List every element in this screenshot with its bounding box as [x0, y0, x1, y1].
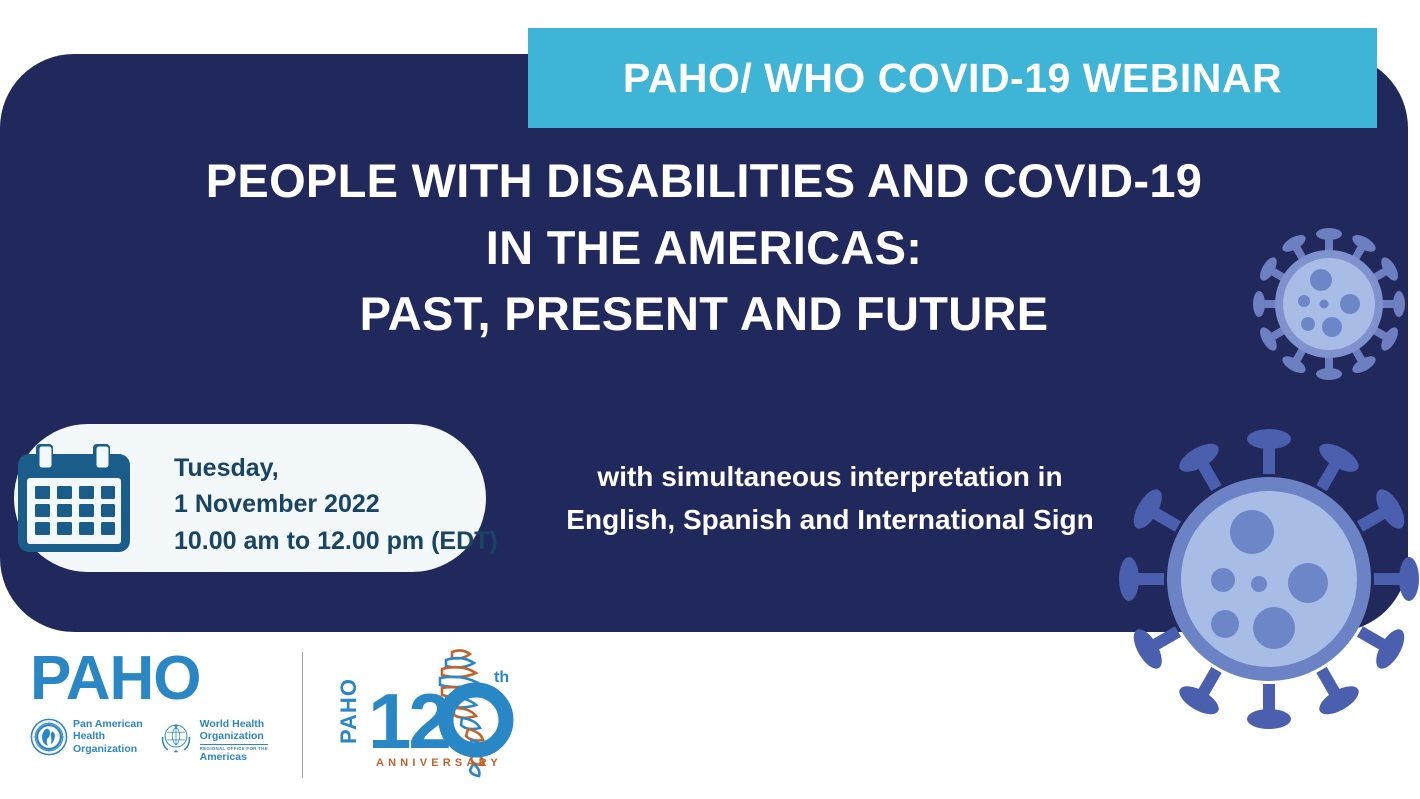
logo-divider	[302, 652, 303, 778]
webinar-banner: PAHO/ WHO COVID-19 WEBINAR	[528, 28, 1377, 128]
anniversary-logo: PAHO 12 th ANNIVERSARY	[334, 644, 534, 784]
who-sub-line-1: World Health	[200, 718, 268, 730]
date-details: Tuesday, 1 November 2022 10.00 am to 12.…	[174, 450, 498, 559]
world-health-organization-text: World Health Organization REGIONAL OFFIC…	[200, 718, 268, 764]
pan-american-health-organization-lockup: Pan American Health Organization	[30, 718, 143, 764]
title-line-1: PEOPLE WITH DISABILITIES AND COVID-19	[0, 148, 1408, 215]
event-date: 1 November 2022	[174, 486, 498, 522]
paho-wordmark: PAHO	[30, 648, 286, 706]
webinar-poster: PAHO/ WHO COVID-19 WEBINAR PEOPLE WITH D…	[0, 0, 1420, 799]
world-health-organization-emblem	[157, 718, 195, 761]
calendar-icon	[10, 438, 138, 560]
who-region-name: Americas	[200, 751, 268, 763]
paho-sub-line-1: Pan American	[73, 718, 143, 730]
interpretation-note: with simultaneous interpretation in Engl…	[530, 456, 1130, 541]
event-day: Tuesday,	[174, 450, 498, 486]
svg-text:12: 12	[368, 677, 449, 765]
paho-logo: PAHO	[30, 648, 286, 780]
pan-american-health-organization-text: Pan American Health Organization	[73, 718, 143, 755]
who-region-row: REGIONAL OFFICE FOR THE Americas	[200, 744, 268, 764]
svg-text:ANNIVERSARY: ANNIVERSARY	[376, 757, 502, 769]
svg-text:th: th	[494, 669, 509, 686]
paho-sub-line-2: Health	[73, 730, 143, 742]
interpretation-line-2: English, Spanish and International Sign	[530, 499, 1130, 542]
title-line-3: PAST, PRESENT AND FUTURE	[0, 281, 1408, 348]
svg-text:PAHO: PAHO	[336, 678, 361, 744]
date-card: Tuesday, 1 November 2022 10.00 am to 12.…	[14, 424, 486, 572]
interpretation-line-1: with simultaneous interpretation in	[530, 456, 1130, 499]
who-sub-line-2: Organization	[200, 730, 268, 742]
event-time: 10.00 am to 12.00 pm (EDT)	[174, 523, 498, 559]
page-title: PEOPLE WITH DISABILITIES AND COVID-19 IN…	[0, 148, 1408, 348]
title-line-2: IN THE AMERICAS:	[0, 215, 1408, 282]
world-health-organization-lockup: World Health Organization REGIONAL OFFIC…	[157, 718, 268, 764]
pan-american-health-organization-emblem	[30, 718, 68, 761]
banner-title: PAHO/ WHO COVID-19 WEBINAR	[623, 55, 1282, 102]
paho-sub-line-3: Organization	[73, 743, 143, 755]
coronavirus-icon-large	[1118, 428, 1420, 730]
